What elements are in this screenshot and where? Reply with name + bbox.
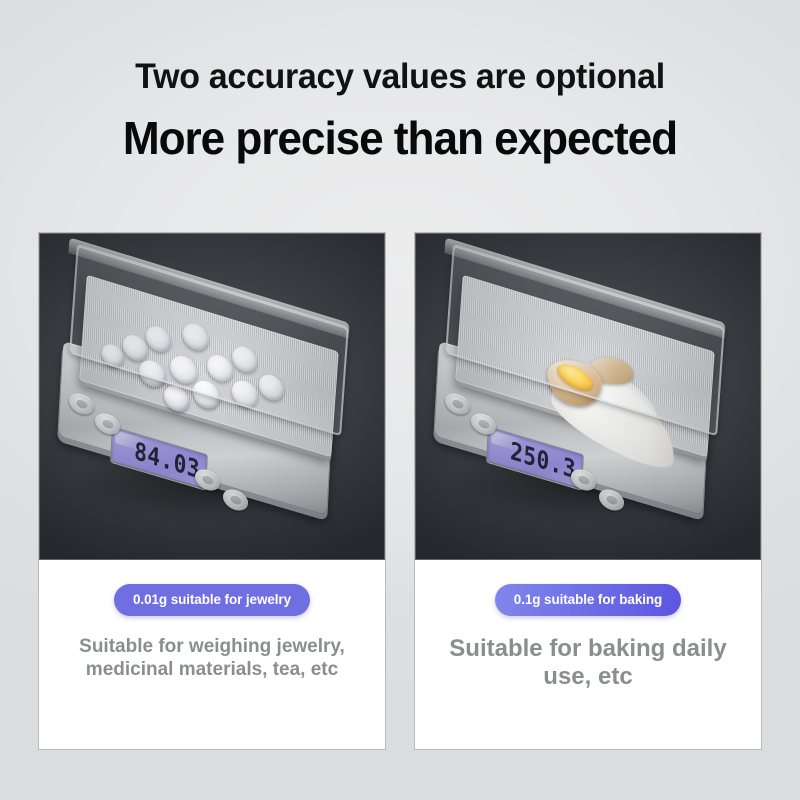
accuracy-card-baking: 250.3 0.1g suitable for baking Suitable … [414, 232, 762, 750]
scale-assembly-jewelry: 84.03 [47, 268, 377, 538]
digital-scale-with-egg-and-flour-photo: 250.3 [415, 233, 761, 560]
caption-block-jewelry: 0.01g suitable for jewelry Suitable for … [39, 560, 385, 749]
caption-block-baking: 0.1g suitable for baking Suitable for ba… [415, 560, 761, 749]
comparison-card-row: 84.03 0.01g suitable for jewelry Suitabl… [38, 232, 762, 750]
headline-block: Two accuracy values are optional More pr… [0, 0, 800, 163]
usage-description-jewelry: Suitable for weighing jewelry, medicinal… [55, 635, 369, 681]
accuracy-card-jewelry: 84.03 0.01g suitable for jewelry Suitabl… [38, 232, 386, 750]
accuracy-badge-baking[interactable]: 0.1g suitable for baking [495, 584, 681, 616]
accuracy-badge-jewelry[interactable]: 0.01g suitable for jewelry [114, 584, 310, 616]
scale-assembly-baking: 250.3 [423, 268, 753, 538]
headline-secondary: More precise than expected [16, 114, 784, 163]
usage-description-baking: Suitable for baking daily use, etc [431, 635, 745, 692]
digital-scale-with-pearls-photo: 84.03 [39, 233, 385, 560]
headline-primary: Two accuracy values are optional [12, 58, 788, 95]
